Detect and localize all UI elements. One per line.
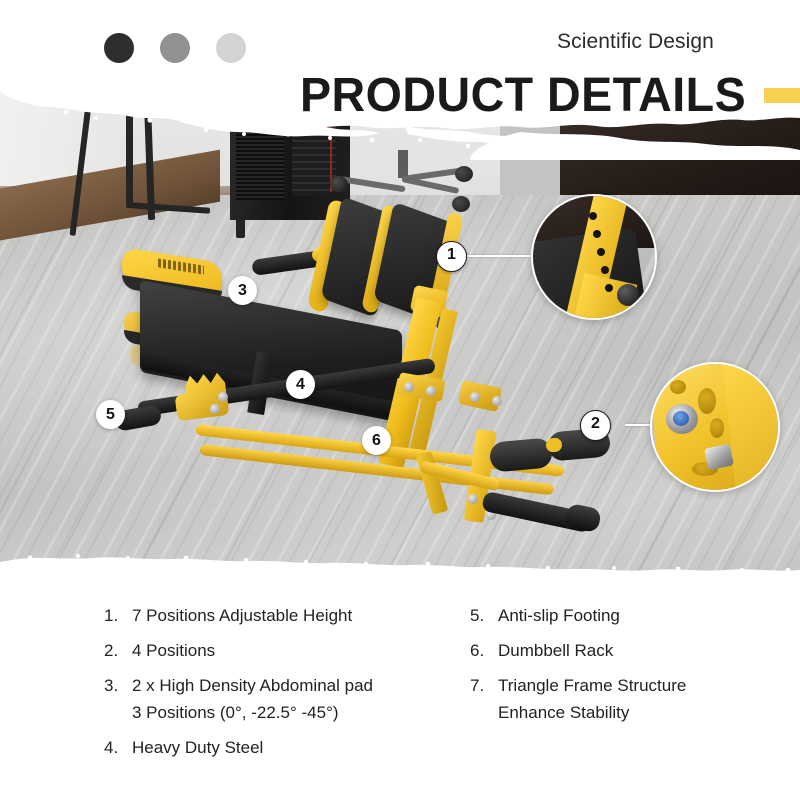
list-item-text: 4 Positions [132,637,215,664]
feature-list-right-column: 5. Anti-slip Footing 6. Dumbbell Rack 7.… [470,602,790,734]
list-item-text: Dumbbell Rack [498,637,613,664]
callout-badge-2[interactable]: 2 [580,410,611,441]
list-item-number: 7. [470,672,498,699]
list-item-number: 4. [104,734,132,761]
decor-dots [104,33,246,63]
callout-badge-6[interactable]: 6 [362,426,391,455]
list-item-number: 1. [104,602,132,629]
list-item: 5. Anti-slip Footing [470,602,790,629]
dot-light-icon [216,33,246,63]
accent-bar [764,88,800,103]
list-item: 7. Triangle Frame Structure Enhance Stab… [470,672,790,726]
feature-list: 1. 7 Positions Adjustable Height 2. 4 Po… [0,588,800,800]
callout-badge-4[interactable]: 4 [286,370,315,399]
brush-stroke-bottom [0,528,800,588]
magnified-inset-2 [650,362,780,492]
callout-badge-3[interactable]: 3 [228,276,257,305]
page-title: PRODUCT DETAILS [300,69,746,123]
header-subtitle: Scientific Design [557,28,757,56]
list-item: 6. Dumbbell Rack [470,637,790,664]
list-item-number: 5. [470,602,498,629]
list-item-number: 6. [470,637,498,664]
dot-medium-icon [160,33,190,63]
product-details-page: 1 2 3 4 5 6 [0,0,800,800]
list-item: 1. 7 Positions Adjustable Height [104,602,484,629]
list-item-text: 7 Positions Adjustable Height [132,602,352,629]
magnified-inset-1 [531,194,657,320]
list-item-number: 2. [104,637,132,664]
dot-dark-icon [104,33,134,63]
leader-line-1 [463,255,539,257]
list-item-text: Anti-slip Footing [498,602,620,629]
list-item: 2. 4 Positions [104,637,484,664]
list-item: 3. 2 x High Density Abdominal pad 3 Posi… [104,672,484,726]
feature-list-left-column: 1. 7 Positions Adjustable Height 2. 4 Po… [104,602,484,769]
list-item-text: 2 x High Density Abdominal pad 3 Positio… [132,672,373,726]
list-item: 4. Heavy Duty Steel [104,734,484,761]
list-item-text: Heavy Duty Steel [132,734,263,761]
list-item-number: 3. [104,672,132,699]
callout-badge-5[interactable]: 5 [96,400,125,429]
callout-badge-1[interactable]: 1 [436,241,467,272]
list-item-text: Triangle Frame Structure Enhance Stabili… [498,672,686,726]
